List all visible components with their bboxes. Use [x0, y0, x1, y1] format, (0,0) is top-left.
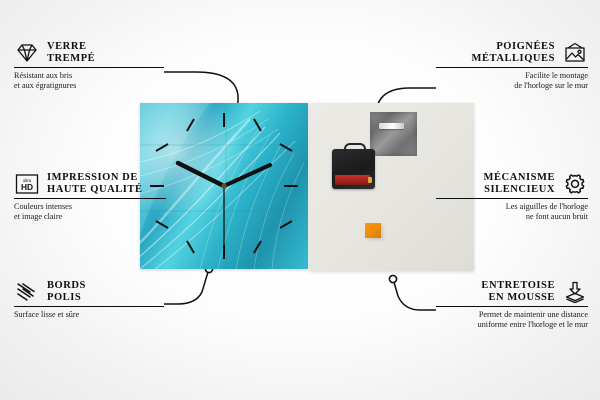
title-line-2: SILENCIEUX — [484, 184, 555, 196]
desc-line-1: Couleurs intenses — [14, 202, 166, 212]
hour-marker-7 — [187, 241, 194, 253]
divider — [436, 67, 588, 68]
feature-header: VERRE TREMPÉ — [14, 41, 166, 64]
title-line-1: VERRE — [47, 41, 95, 53]
feature-poignees-metalliques: POIGNÉES MÉTALLIQUES Facilite le montage… — [436, 41, 588, 91]
feature-title: IMPRESSION DE HAUTE QUALITÉ — [47, 172, 143, 195]
feature-description: Facilite le montage de l'horloge sur le … — [436, 71, 588, 90]
feature-header: ENTRETOISE EN MOUSSE — [436, 280, 588, 303]
feature-description: Couleurs intenses et image claire — [14, 202, 166, 221]
hour-marker-1 — [254, 119, 261, 131]
feature-title: BORDS POLIS — [47, 280, 86, 303]
title-line-2: MÉTALLIQUES — [472, 53, 555, 65]
feature-description: Surface lisse et sûre — [14, 310, 166, 320]
mechanism-hook — [344, 143, 366, 154]
connector-entretoise — [394, 282, 436, 310]
svg-text:HD: HD — [21, 182, 33, 192]
feature-description: Permet de maintenir une distance uniform… — [436, 310, 588, 329]
title-line-1: MÉCANISME — [484, 172, 555, 184]
hour-marker-8 — [156, 221, 168, 228]
hour-marker-11 — [187, 119, 194, 131]
hanger-slot — [379, 123, 404, 129]
minute-hand — [224, 165, 270, 186]
title-line-2: TREMPÉ — [47, 53, 95, 65]
ultra-hd-badge-icon: ultra HD — [14, 173, 40, 195]
feature-header: BORDS POLIS — [14, 280, 166, 303]
title-line-1: ENTRETOISE — [481, 280, 555, 292]
desc-line-2: et image claire — [14, 212, 166, 222]
feature-entretoise-en-mousse: ENTRETOISE EN MOUSSE Permet de maintenir… — [436, 280, 588, 330]
feature-header: POIGNÉES MÉTALLIQUES — [436, 41, 588, 64]
desc-line-1: Résistant aux bris — [14, 71, 166, 81]
wall-hanger-frame-icon — [562, 42, 588, 64]
gear-icon — [562, 173, 588, 195]
feature-description: Les aiguilles de l'horloge ne font aucun… — [436, 202, 588, 221]
title-line-2: POLIS — [47, 292, 86, 304]
feature-title: MÉCANISME SILENCIEUX — [484, 172, 555, 195]
divider — [436, 306, 588, 307]
title-line-2: HAUTE QUALITÉ — [47, 184, 143, 196]
feature-description: Résistant aux bris et aux égratignures — [14, 71, 166, 90]
feature-header: MÉCANISME SILENCIEUX — [436, 172, 588, 195]
foam-spacer-arrow-icon — [562, 281, 588, 303]
feature-title: POIGNÉES MÉTALLIQUES — [472, 41, 555, 64]
infographic-canvas: VERRE TREMPÉ Résistant aux bris et aux é… — [0, 0, 600, 400]
hour-marker-10 — [156, 144, 168, 151]
divider — [14, 198, 166, 199]
feature-title: VERRE TREMPÉ — [47, 41, 95, 64]
hour-marker-2 — [280, 144, 292, 151]
hour-marker-5 — [254, 241, 261, 253]
desc-line-1: Permet de maintenir une distance — [436, 310, 588, 320]
feature-verre-trempe: VERRE TREMPÉ Résistant aux bris et aux é… — [14, 41, 166, 91]
foam-spacer — [365, 223, 381, 238]
diamond-icon — [14, 42, 40, 64]
title-line-1: IMPRESSION DE — [47, 172, 143, 184]
hour-marker-4 — [280, 221, 292, 228]
product-image — [140, 103, 474, 277]
divider — [14, 306, 164, 307]
feature-title: ENTRETOISE EN MOUSSE — [481, 280, 555, 303]
desc-line-2: ne font aucun bruit — [436, 212, 588, 222]
divider — [436, 198, 588, 199]
desc-line-2: et aux égratignures — [14, 81, 166, 91]
desc-line-1: Facilite le montage — [436, 71, 588, 81]
feature-impression-haute-qualite: ultra HD IMPRESSION DE HAUTE QUALITÉ Cou… — [14, 172, 166, 222]
desc-line-1: Surface lisse et sûre — [14, 310, 166, 320]
title-line-1: BORDS — [47, 280, 86, 292]
metal-hanger-plate — [370, 112, 417, 156]
clock-mechanism-box — [332, 149, 375, 189]
feature-bords-polis: BORDS POLIS Surface lisse et sûre — [14, 280, 166, 320]
feature-mecanisme-silencieux: MÉCANISME SILENCIEUX Les aiguilles de l'… — [436, 172, 588, 222]
polished-edges-icon — [14, 281, 40, 303]
title-line-1: POIGNÉES — [472, 41, 555, 53]
title-line-2: EN MOUSSE — [481, 292, 555, 304]
desc-line-1: Les aiguilles de l'horloge — [436, 202, 588, 212]
hour-hand — [178, 163, 224, 186]
battery — [335, 175, 370, 185]
divider — [14, 67, 164, 68]
desc-line-2: de l'horloge sur le mur — [436, 81, 588, 91]
clock-center-cap — [221, 183, 226, 188]
feature-header: ultra HD IMPRESSION DE HAUTE QUALITÉ — [14, 172, 166, 195]
desc-line-2: uniforme entre l'horloge et le mur — [436, 320, 588, 330]
